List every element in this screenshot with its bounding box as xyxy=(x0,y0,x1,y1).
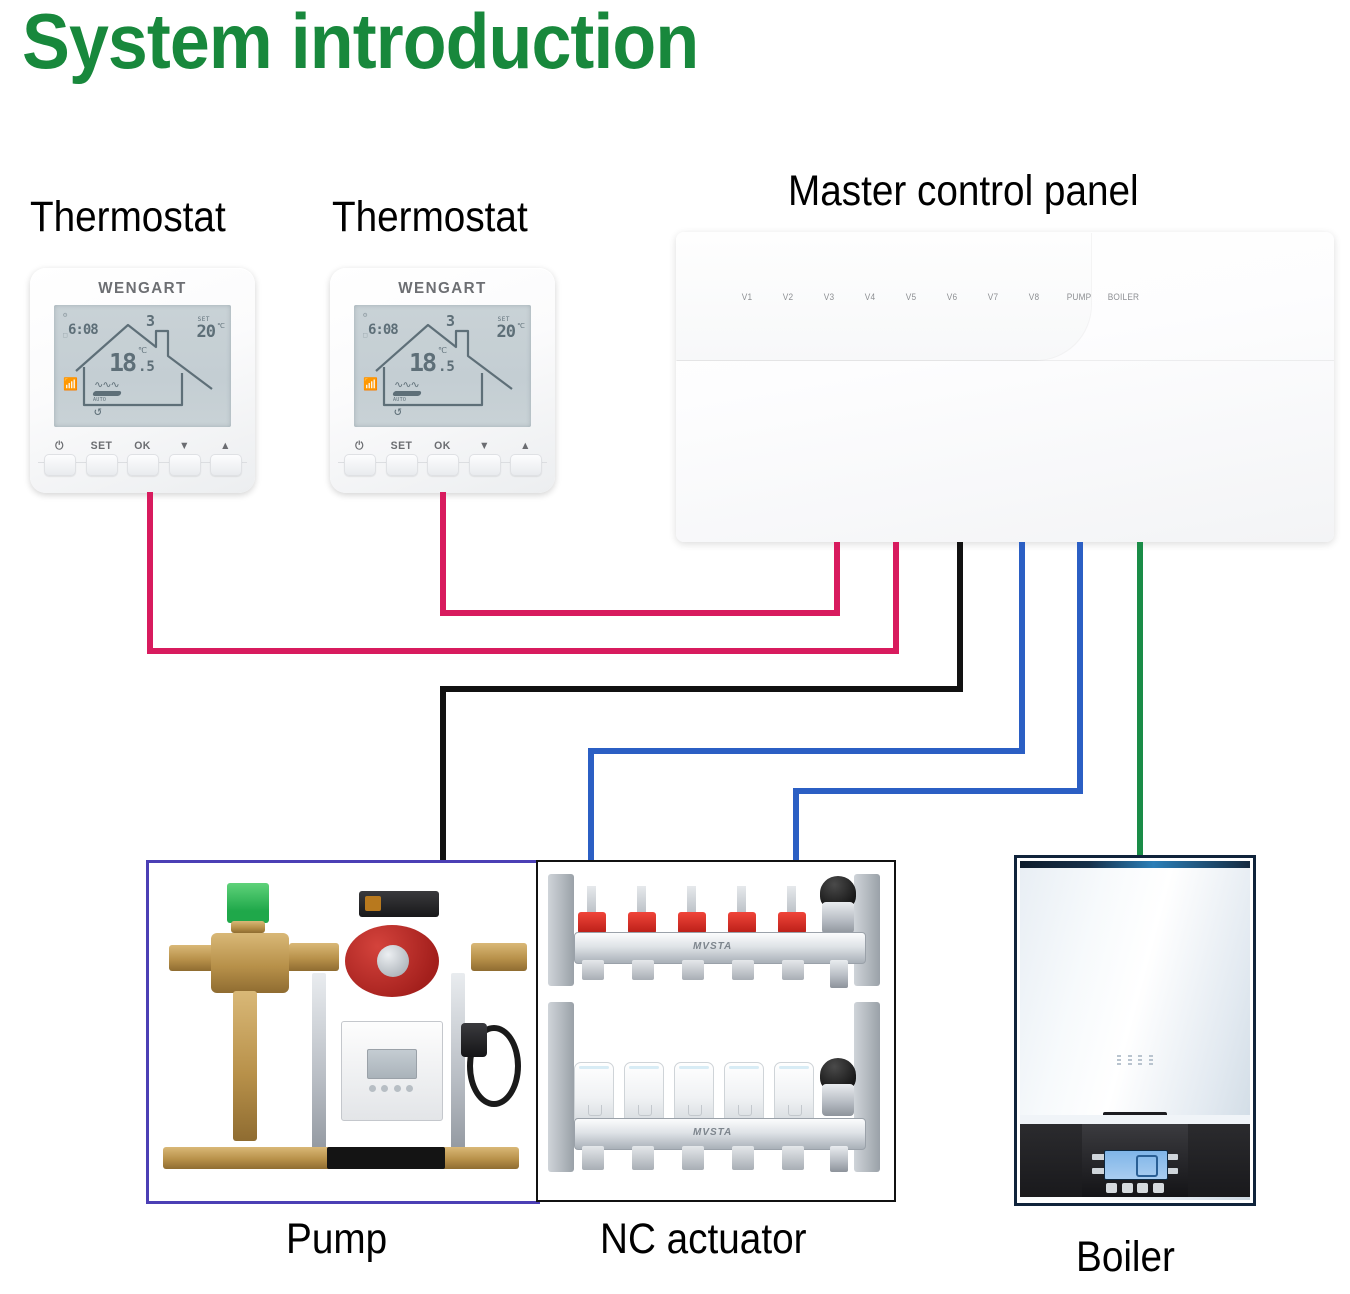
signal-icon: □ xyxy=(63,331,67,339)
ok-button-label: OK xyxy=(428,440,457,453)
floor-heating-bar-icon xyxy=(392,391,422,396)
lcd-room-temp-unit: ℃ xyxy=(438,346,447,355)
pump-power-wire-seg-down-2 xyxy=(440,686,446,866)
pump-green-valve-cap xyxy=(227,883,269,923)
pump-steel-bracket-left xyxy=(312,973,326,1163)
lcd-room-temp-decimal: .5 xyxy=(438,359,455,375)
down-button-pad[interactable] xyxy=(169,454,201,476)
power-button-label: ⏻ xyxy=(45,440,74,453)
boiler-top-trim xyxy=(1020,861,1250,868)
boiler-lcd-display xyxy=(1104,1150,1168,1180)
air-vent-body-top xyxy=(822,902,854,934)
thermostat-1-signal-wire-seg-up xyxy=(893,542,899,654)
flow-meter-5 xyxy=(778,912,806,934)
wifi-icon: 📶 xyxy=(363,377,378,391)
lcd-weekday: 3 xyxy=(146,312,155,330)
ok-button[interactable]: OK xyxy=(427,440,458,476)
lcd-set-value: 20 xyxy=(497,322,515,342)
power-button-label: ⏻ xyxy=(345,440,374,453)
flow-meter-4 xyxy=(728,912,756,934)
down-button-pad[interactable] xyxy=(469,454,501,476)
down-button-label: ▼ xyxy=(169,440,198,453)
ok-button-label: OK xyxy=(128,440,157,453)
pump-power-wire-seg-across xyxy=(440,686,963,692)
led-v2: V2 xyxy=(779,287,797,302)
thermostat-device-1[interactable]: WENGART ⚙ □ 6:08 3 SET 20 ℃ 18 .5 ℃ 📶 ∿∿… xyxy=(30,268,255,493)
pump-controller-keys[interactable] xyxy=(369,1085,413,1092)
lcd-room-temp: 18 xyxy=(409,348,435,377)
down-button[interactable]: ▼ xyxy=(469,440,500,476)
wifi-icon: 📶 xyxy=(63,377,78,391)
led-v5: V5 xyxy=(902,287,920,302)
led-label: V4 xyxy=(862,292,879,302)
lcd-set-unit: ℃ xyxy=(517,322,525,330)
auto-mode-icon: ↺ xyxy=(394,404,402,419)
lcd-clock: 6:08 xyxy=(368,322,398,338)
led-label: V3 xyxy=(821,292,838,302)
lock-icon: ⚙ xyxy=(363,311,367,319)
nc-actuator-manifold-image: MVSTA MVSTA xyxy=(536,860,896,1202)
power-button[interactable]: ⏻ xyxy=(44,440,75,476)
boiler-control-wire-seg-down xyxy=(1137,542,1143,860)
pump-mixing-valve-body xyxy=(211,933,289,993)
boiler-control-panel-face xyxy=(1082,1124,1188,1197)
lcd-set-value: 20 xyxy=(197,322,215,342)
thermostat-2-signal-wire-seg-up xyxy=(834,542,840,616)
thermostat-brand: WENGART xyxy=(336,280,550,298)
label-thermostat-1: Thermostat xyxy=(30,196,226,239)
thermostat-device-2[interactable]: WENGART ⚙ □ 6:08 3 SET 20 ℃ 18 .5 ℃ 📶 ∿∿… xyxy=(330,268,555,493)
set-button[interactable]: SET xyxy=(86,440,117,476)
label-nc-actuator: NC actuator xyxy=(600,1218,806,1261)
manifold-port-top-3 xyxy=(682,960,704,980)
nc-actuator-head-1[interactable] xyxy=(574,1062,614,1122)
actuator-2-wire-seg-down-1 xyxy=(1077,542,1083,794)
led-v3: V3 xyxy=(820,287,838,302)
manifold-drain-top xyxy=(830,960,848,988)
air-vent-body-bottom xyxy=(822,1084,854,1116)
manifold-bracket-top-right xyxy=(854,874,880,986)
auto-mode-icon: ↺ xyxy=(94,404,102,419)
manifold-port-top-1 xyxy=(582,960,604,980)
pump-insulated-section xyxy=(327,1147,445,1169)
boiler-unit-image xyxy=(1014,855,1256,1206)
manifold-port-top-2 xyxy=(632,960,654,980)
led-pump: PUMP xyxy=(1066,287,1084,302)
master-panel-seam xyxy=(676,360,1334,361)
manifold-port-bottom-5 xyxy=(782,1146,804,1170)
lcd-room-temp: 18 xyxy=(109,348,135,377)
pump-hub xyxy=(377,945,409,977)
thermostat-button-row-1: ⏻ SET OK ▼ ▲ xyxy=(44,440,241,480)
label-thermostat-2: Thermostat xyxy=(332,196,528,239)
lcd-auto-label: AUTO xyxy=(393,397,406,403)
ok-button-pad[interactable] xyxy=(127,454,159,476)
led-label: V2 xyxy=(780,292,797,302)
lcd-room-temp-unit: ℃ xyxy=(138,346,147,355)
up-button-pad[interactable] xyxy=(510,454,542,476)
manifold-logo: MVSTA xyxy=(693,1127,732,1138)
flow-meter-1 xyxy=(578,912,606,934)
down-button-label: ▼ xyxy=(469,440,498,453)
manifold-bracket-bottom-left xyxy=(548,1002,574,1172)
manifold-port-top-4 xyxy=(732,960,754,980)
boiler-casing xyxy=(1020,861,1250,1200)
up-button[interactable]: ▲ xyxy=(510,440,541,476)
set-button-label: SET xyxy=(386,440,415,453)
set-button-pad[interactable] xyxy=(386,454,418,476)
ok-button[interactable]: OK xyxy=(127,440,158,476)
lcd-set-unit: ℃ xyxy=(217,322,225,330)
boiler-vent-grille-icon xyxy=(1117,1055,1153,1066)
boiler-control-panel[interactable] xyxy=(1020,1115,1250,1197)
thermostat-brand: WENGART xyxy=(36,280,250,298)
led-label: BOILER xyxy=(1108,292,1125,302)
manifold-port-bottom-2 xyxy=(632,1146,654,1170)
pump-vertical-brass-pipe xyxy=(233,991,257,1141)
led-v7: V7 xyxy=(984,287,1002,302)
manifold-rail-top: MVSTA xyxy=(574,932,866,964)
actuator-2-wire-seg-across xyxy=(793,788,1083,794)
thermostat-1-signal-wire-seg-down xyxy=(147,492,153,654)
page-title: System introduction xyxy=(22,2,698,80)
led-label: PUMP xyxy=(1067,292,1084,302)
pump-unit-image xyxy=(146,860,540,1204)
lcd-weekday: 3 xyxy=(446,312,455,330)
floor-heating-waves-icon: ∿∿∿ xyxy=(394,379,419,389)
manifold-port-bottom-3 xyxy=(682,1146,704,1170)
led-label: V5 xyxy=(903,292,920,302)
pump-controller-lcd xyxy=(367,1049,417,1079)
nc-actuator-head-5[interactable] xyxy=(774,1062,814,1122)
lcd-clock: 6:08 xyxy=(68,322,98,338)
master-panel-led-row: V1 V2 V3 V4 V5 V6 V7 V8 PUMP BOILER xyxy=(738,287,1125,302)
manifold-port-top-5 xyxy=(782,960,804,980)
thermostat-2-signal-wire-seg-down xyxy=(440,492,446,616)
pump-valve-neck xyxy=(231,921,265,933)
nc-actuator-head-2[interactable] xyxy=(624,1062,664,1122)
nc-actuator-head-4[interactable] xyxy=(724,1062,764,1122)
lock-icon: ⚙ xyxy=(63,311,67,319)
set-button[interactable]: SET xyxy=(386,440,417,476)
label-master-panel: Master control panel xyxy=(788,170,1139,213)
down-button[interactable]: ▼ xyxy=(169,440,200,476)
boiler-keypad[interactable] xyxy=(1106,1183,1164,1193)
up-button-label: ▲ xyxy=(511,440,540,453)
thermostat-lcd-2: ⚙ □ 6:08 3 SET 20 ℃ 18 .5 ℃ 📶 ∿∿∿ AUTO ↺ xyxy=(354,305,531,427)
thermostat-button-row-2: ⏻ SET OK ▼ ▲ xyxy=(344,440,541,480)
pump-brass-pipe-top-right xyxy=(471,943,527,971)
pump-brass-pipe-mid xyxy=(289,943,339,971)
manifold-bracket-top-left xyxy=(548,874,574,986)
led-label: V1 xyxy=(739,292,756,302)
thermostat-2-signal-wire-seg-across xyxy=(440,610,840,616)
pump-warning-icon xyxy=(365,896,381,911)
set-button-label: SET xyxy=(86,440,115,453)
led-v6: V6 xyxy=(943,287,961,302)
actuator-1-wire-seg-across xyxy=(588,748,1025,754)
label-boiler: Boiler xyxy=(1076,1236,1175,1279)
power-button[interactable]: ⏻ xyxy=(344,440,375,476)
set-button-pad[interactable] xyxy=(86,454,118,476)
ok-button-pad[interactable] xyxy=(427,454,459,476)
led-label: V8 xyxy=(1026,292,1043,302)
up-button-pad[interactable] xyxy=(210,454,242,476)
floor-heating-waves-icon: ∿∿∿ xyxy=(94,379,119,389)
manifold-logo: MVSTA xyxy=(693,941,732,952)
signal-icon: □ xyxy=(363,331,367,339)
led-v8: V8 xyxy=(1025,287,1043,302)
led-v1: V1 xyxy=(738,287,756,302)
manifold-port-bottom-4 xyxy=(732,1146,754,1170)
manifold-rail-bottom: MVSTA xyxy=(574,1118,866,1150)
floor-heating-bar-icon xyxy=(92,391,122,396)
flow-meter-3 xyxy=(678,912,706,934)
led-boiler: BOILER xyxy=(1107,287,1125,302)
thermostat-lcd-1: ⚙ □ 6:08 3 SET 20 ℃ 18 .5 ℃ 📶 ∿∿∿ AUTO ↺ xyxy=(54,305,231,427)
led-v4: V4 xyxy=(861,287,879,302)
manifold-port-bottom-1 xyxy=(582,1146,604,1170)
led-label: V7 xyxy=(985,292,1002,302)
lcd-auto-label: AUTO xyxy=(93,397,106,403)
pump-steel-bracket-right xyxy=(451,973,465,1163)
actuator-1-wire-seg-down-1 xyxy=(1019,542,1025,754)
thermostat-1-signal-wire-seg-across xyxy=(147,648,899,654)
nc-actuator-head-3[interactable] xyxy=(674,1062,714,1122)
master-control-panel[interactable]: V1 V2 V3 V4 V5 V6 V7 V8 PUMP BOILER xyxy=(676,232,1334,542)
led-label: V6 xyxy=(944,292,961,302)
pump-power-plug xyxy=(461,1023,487,1057)
lcd-room-temp-decimal: .5 xyxy=(138,359,155,375)
power-button-pad[interactable] xyxy=(44,454,76,476)
manifold-drain-bottom xyxy=(830,1146,848,1172)
label-pump: Pump xyxy=(286,1218,387,1261)
up-button-label: ▲ xyxy=(211,440,240,453)
flow-meter-2 xyxy=(628,912,656,934)
power-button-pad[interactable] xyxy=(344,454,376,476)
up-button[interactable]: ▲ xyxy=(210,440,241,476)
pump-power-wire-seg-down-1 xyxy=(957,542,963,692)
